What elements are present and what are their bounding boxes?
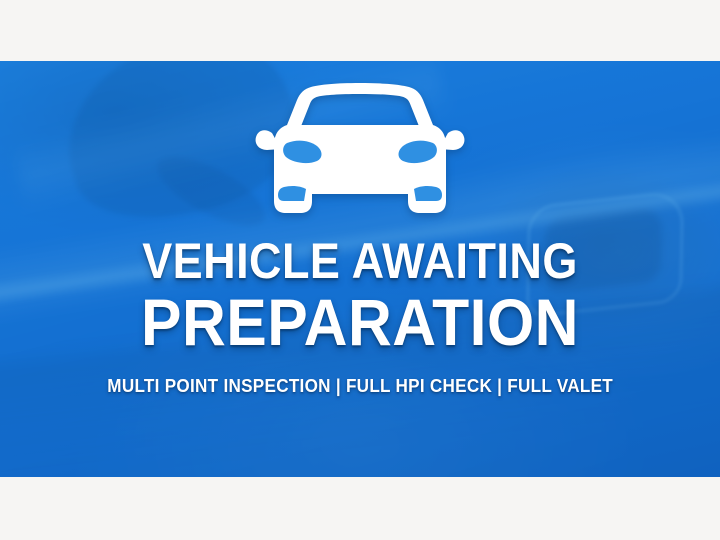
headline-line-1: VEHICLE AWAITING [36, 237, 684, 285]
placeholder-image: VEHICLE AWAITING PREPARATION MULTI POINT… [0, 0, 720, 540]
letterbox-bar-bottom [0, 477, 720, 540]
headline-block: VEHICLE AWAITING PREPARATION [0, 237, 720, 354]
car-front-icon [254, 75, 466, 235]
services-subtitle: MULTI POINT INSPECTION | FULL HPI CHECK … [107, 376, 613, 397]
vehicle-status-banner: VEHICLE AWAITING PREPARATION MULTI POINT… [0, 61, 720, 477]
letterbox-bar-top [0, 0, 720, 61]
headline-line-2: PREPARATION [29, 291, 691, 354]
banner-content: VEHICLE AWAITING PREPARATION MULTI POINT… [0, 61, 720, 477]
